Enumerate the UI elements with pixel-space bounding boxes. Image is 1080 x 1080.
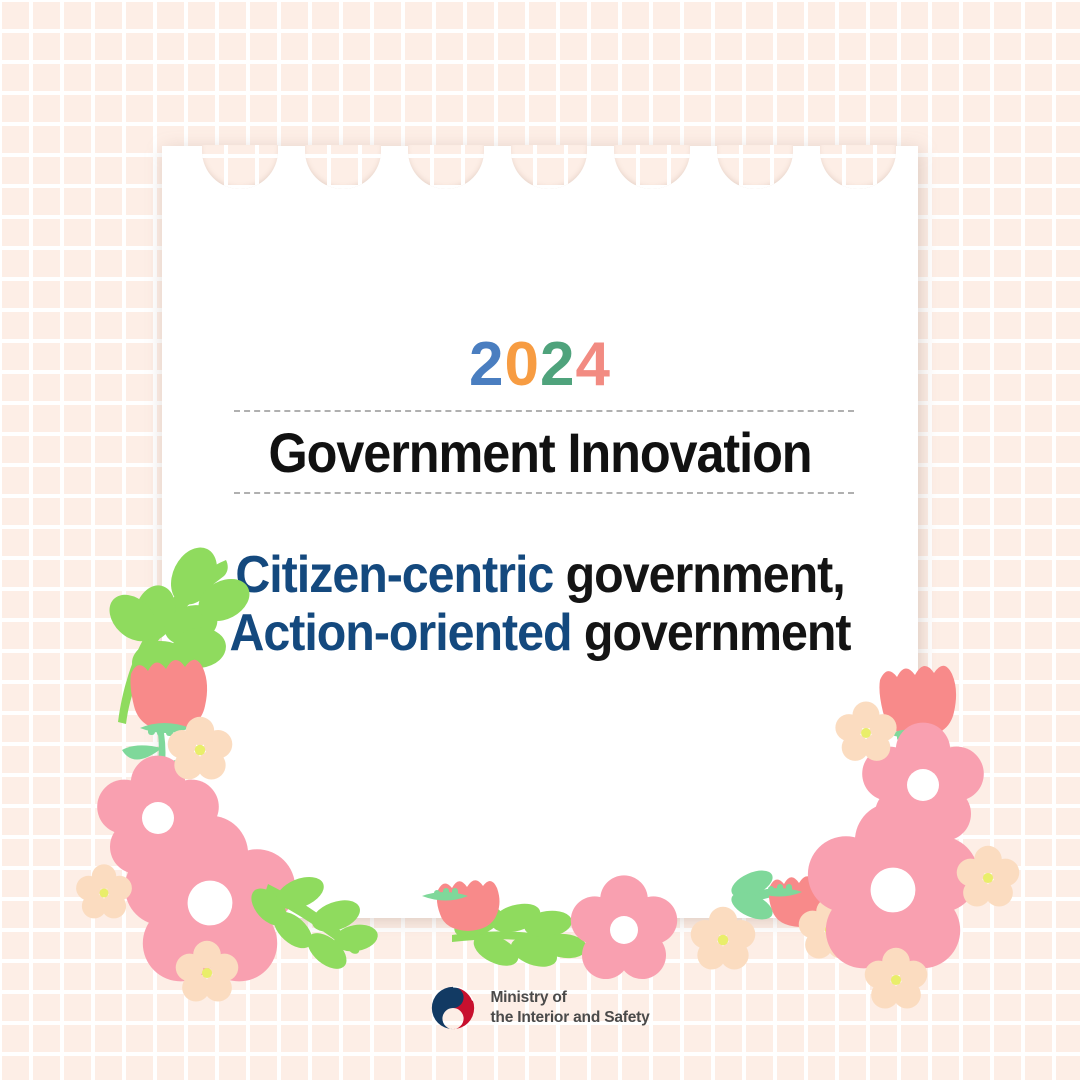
year-heading: 2024 bbox=[162, 334, 918, 396]
year-digit-4: 4 bbox=[575, 334, 610, 396]
year-digit-2: 0 bbox=[505, 334, 540, 396]
ministry-name: Ministry of the Interior and Safety bbox=[490, 988, 649, 1028]
ministry-line-1: Ministry of bbox=[490, 988, 649, 1008]
slogan-rest-1: government, bbox=[566, 546, 845, 604]
slogan-line-1: Citizen-centric government, bbox=[188, 546, 891, 604]
slogan-highlight-2: Action-oriented bbox=[230, 604, 572, 662]
divider-dashed-bottom bbox=[234, 492, 854, 494]
ministry-line-2: the Interior and Safety bbox=[490, 1008, 649, 1028]
paper-content: 2024 Government Innovation Citizen-centr… bbox=[162, 146, 918, 918]
taegeuk-emblem-icon bbox=[430, 985, 476, 1031]
ministry-logo: Ministry of the Interior and Safety bbox=[0, 985, 1080, 1031]
divider-dashed-top bbox=[234, 410, 854, 412]
slogan-highlight-1: Citizen-centric bbox=[235, 546, 553, 604]
year-digit-3: 2 bbox=[540, 334, 575, 396]
slogan: Citizen-centric government, Action-orien… bbox=[188, 546, 891, 662]
page-title: Government Innovation bbox=[200, 418, 880, 488]
slogan-line-2: Action-oriented government bbox=[188, 604, 891, 662]
flower-peach-left-low bbox=[76, 864, 132, 918]
flower-peach-right-low bbox=[957, 846, 1020, 907]
poster-canvas: 2024 Government Innovation Citizen-centr… bbox=[0, 0, 1080, 1080]
year-digit-1: 2 bbox=[469, 334, 504, 396]
slogan-rest-2: government bbox=[584, 604, 851, 662]
notepad-paper: 2024 Government Innovation Citizen-centr… bbox=[162, 146, 918, 918]
